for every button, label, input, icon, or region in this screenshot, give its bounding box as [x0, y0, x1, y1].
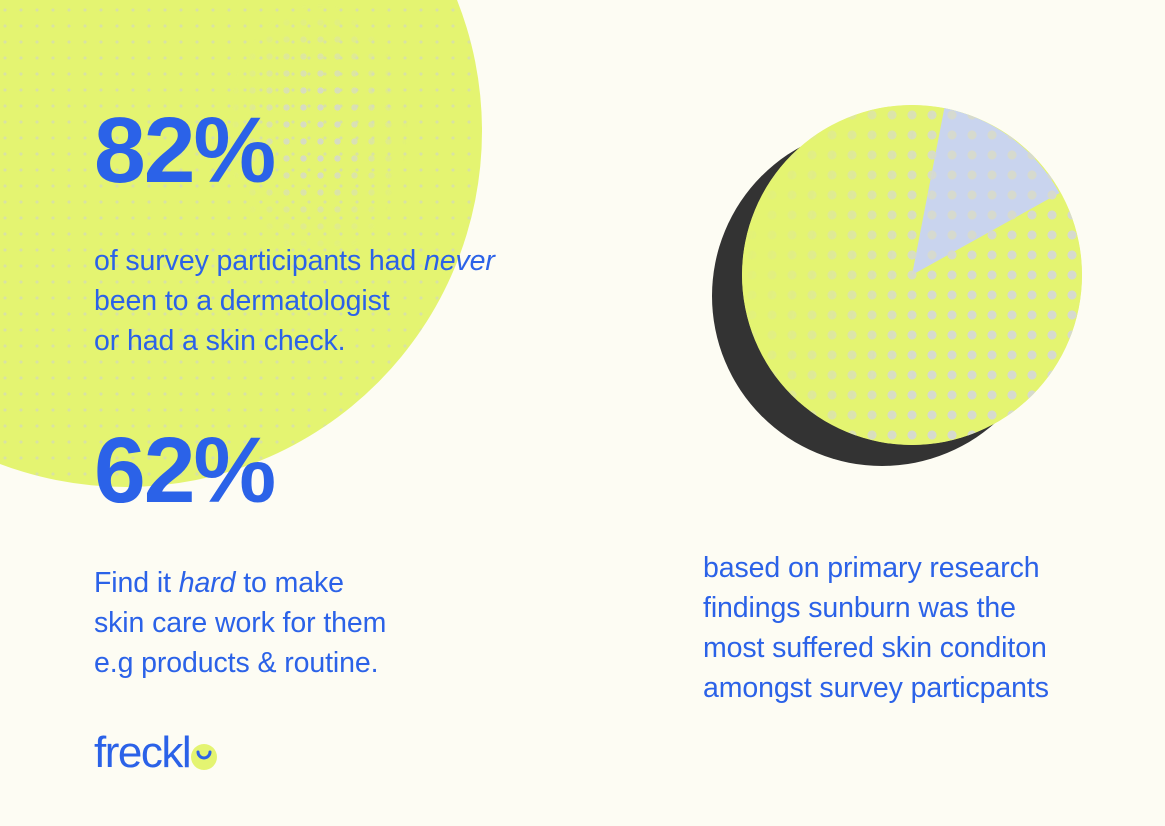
stat-block-82: 82% of survey participants had never bee… — [94, 104, 495, 361]
logo-wordmark: freckl — [94, 731, 190, 775]
stat-desc2-line3: e.g products & routine. — [94, 647, 378, 679]
stat-block-62: 62% Find it hard to make skin care work … — [94, 424, 386, 683]
pie-slices — [742, 105, 1082, 445]
chart-caption-line1: based on primary research — [703, 552, 1040, 584]
stat-desc-line1-part1: of survey participants had — [94, 245, 424, 277]
pie-body — [742, 105, 1082, 445]
stat-desc-emphasis-hard: hard — [179, 567, 236, 599]
infographic-canvas: 82% of survey participants had never bee… — [0, 0, 1165, 826]
stat-desc-line2: been to a dermatologist — [94, 285, 390, 317]
chart-caption: based on primary research findings sunbu… — [703, 548, 1123, 708]
stat-value-62: 62% — [94, 424, 386, 517]
stat-description-62: Find it hard to make skin care work for … — [94, 563, 386, 683]
stat-desc2-line2: skin care work for them — [94, 607, 386, 639]
stat-value-82: 82% — [94, 104, 495, 197]
pie-chart — [700, 92, 1100, 492]
chart-caption-line4: amongst survey particpants — [703, 672, 1049, 704]
stat-desc2-line1-part1: Find it — [94, 567, 179, 599]
chart-caption-line3: most suffered skin conditon — [703, 632, 1047, 664]
smile-dot-icon — [191, 744, 217, 770]
stat-desc-line3: or had a skin check. — [94, 325, 345, 357]
stat-desc2-line1-part2: to make — [235, 567, 344, 599]
freckl-logo[interactable]: freckl — [94, 731, 217, 775]
stat-description-82: of survey participants had never been to… — [94, 241, 495, 361]
chart-caption-line2: findings sunburn was the — [703, 592, 1016, 624]
stat-desc-emphasis-never: never — [424, 245, 495, 277]
